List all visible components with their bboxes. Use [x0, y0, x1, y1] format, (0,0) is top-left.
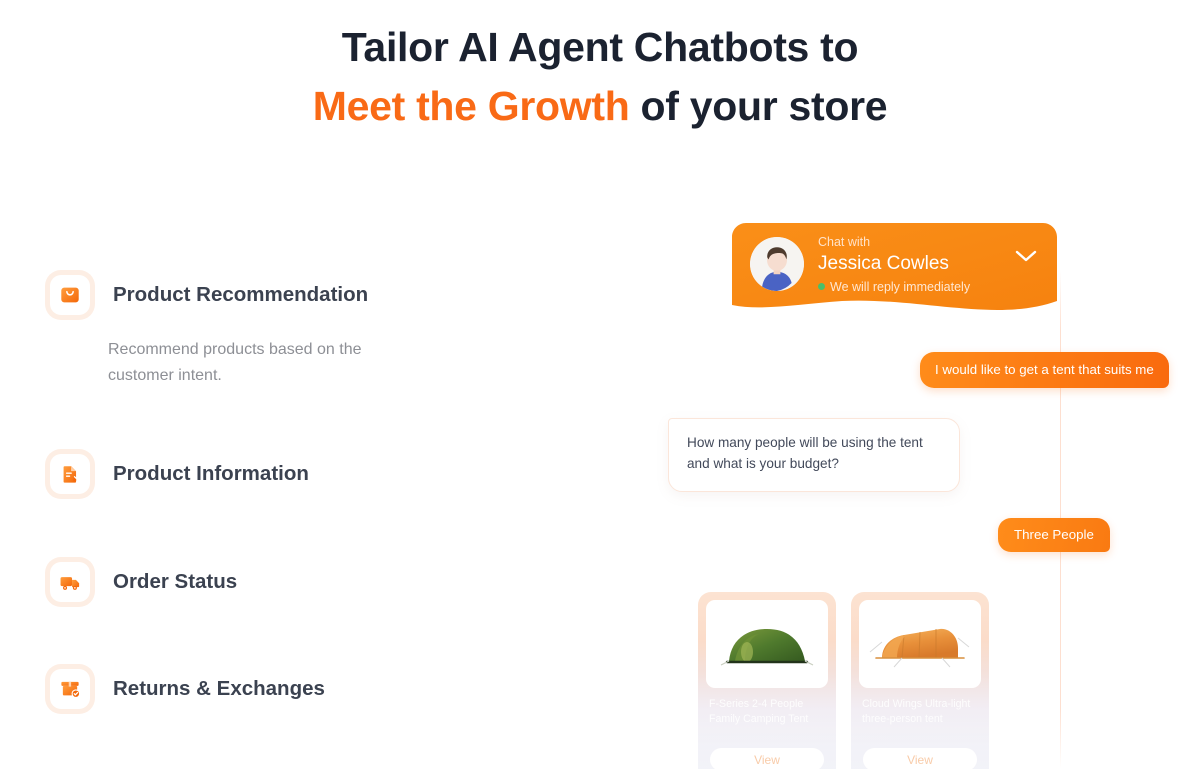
status-text: We will reply immediately — [830, 280, 970, 294]
feature-title: Order Status — [113, 570, 237, 594]
product-title: Cloud Wings Ultra-light three-person ten… — [859, 697, 981, 727]
chat-header-content: Chat with Jessica Cowles We will reply i… — [732, 223, 1057, 305]
orange-tunnel-tent-image — [859, 600, 981, 688]
feature-item-product-recommendation[interactable]: Product Recommendation Recommend product… — [50, 275, 480, 389]
feature-item-product-information[interactable]: Product Information — [50, 454, 480, 494]
delivery-truck-icon — [50, 562, 90, 602]
view-product-button[interactable]: View — [863, 748, 977, 769]
status-badge: We will reply immediately — [818, 280, 970, 294]
product-title: F-Series 2-4 People Family Camping Tent — [706, 697, 828, 727]
product-card[interactable]: F-Series 2-4 People Family Camping Tent … — [698, 592, 836, 769]
chat-message-user-reply: Three People — [998, 518, 1110, 552]
feature-item-order-status[interactable]: Order Status — [50, 562, 480, 602]
avatar — [750, 237, 804, 291]
page-title: Tailor AI Agent Chatbots to Meet the Gro… — [0, 18, 1200, 136]
box-check-icon — [50, 669, 90, 709]
online-status-dot — [818, 283, 825, 290]
green-dome-tent-image — [706, 600, 828, 688]
feature-description: Recommend products based on the customer… — [108, 337, 418, 389]
page-title-accent: Meet the Growth — [313, 83, 630, 129]
feature-header: Order Status — [50, 562, 480, 602]
chat-with-label: Chat with — [818, 234, 970, 251]
chat-message-bot: How many people will be using the tent a… — [668, 418, 960, 492]
shopping-bag-icon — [50, 275, 90, 315]
product-card[interactable]: Cloud Wings Ultra-light three-person ten… — [851, 592, 989, 769]
agent-name: Jessica Cowles — [818, 252, 970, 276]
page-title-line1: Tailor AI Agent Chatbots to — [342, 24, 859, 70]
page-title-line2-rest: of your store — [629, 83, 887, 129]
chat-message-user: I would like to get a tent that suits me — [920, 352, 1169, 388]
view-product-button[interactable]: View — [710, 748, 824, 769]
feature-item-returns-exchanges[interactable]: Returns & Exchanges — [50, 669, 480, 709]
feature-title: Product Recommendation — [113, 283, 368, 307]
feature-title: Product Information — [113, 462, 309, 486]
feature-header: Returns & Exchanges — [50, 669, 480, 709]
chat-header-text: Chat with Jessica Cowles We will reply i… — [818, 234, 970, 293]
landing-page-section: Tailor AI Agent Chatbots to Meet the Gro… — [0, 0, 1200, 769]
feature-header: Product Recommendation — [50, 275, 480, 315]
document-edit-icon — [50, 454, 90, 494]
product-card-list: F-Series 2-4 People Family Camping Tent … — [698, 592, 989, 769]
feature-title: Returns & Exchanges — [113, 677, 325, 701]
chat-widget-mockup: Chat with Jessica Cowles We will reply i… — [660, 210, 1200, 769]
chevron-down-icon[interactable] — [1015, 249, 1037, 263]
chat-header: Chat with Jessica Cowles We will reply i… — [732, 223, 1057, 321]
feature-header: Product Information — [50, 454, 480, 494]
